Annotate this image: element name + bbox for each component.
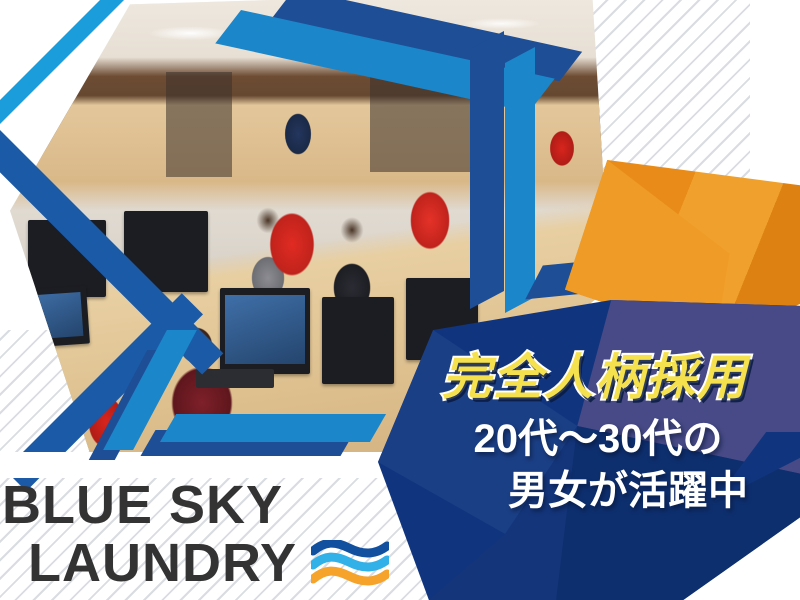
ribbon-navy-diagonal [470,31,504,309]
keyboard [196,369,274,388]
wave-mark-icon [311,540,389,586]
brand-line-laundry: LAUNDRY [28,534,297,592]
monitor [322,297,394,383]
brand-line-laundry-row: LAUNDRY [0,534,400,592]
brand-logo: BLUE SKY LAUNDRY [0,476,400,592]
cubicle-panel [166,72,232,178]
brand-line-blue-sky: BLUE SKY [0,476,400,534]
chevron-blue-horizontal [160,414,386,442]
recruitment-poster: 完全人柄採用 20代〜30代の 男女が活躍中 BLUE SKY LAUNDRY [0,0,800,600]
monitor [220,288,310,374]
ribbon-blue-diagonal [505,47,535,313]
